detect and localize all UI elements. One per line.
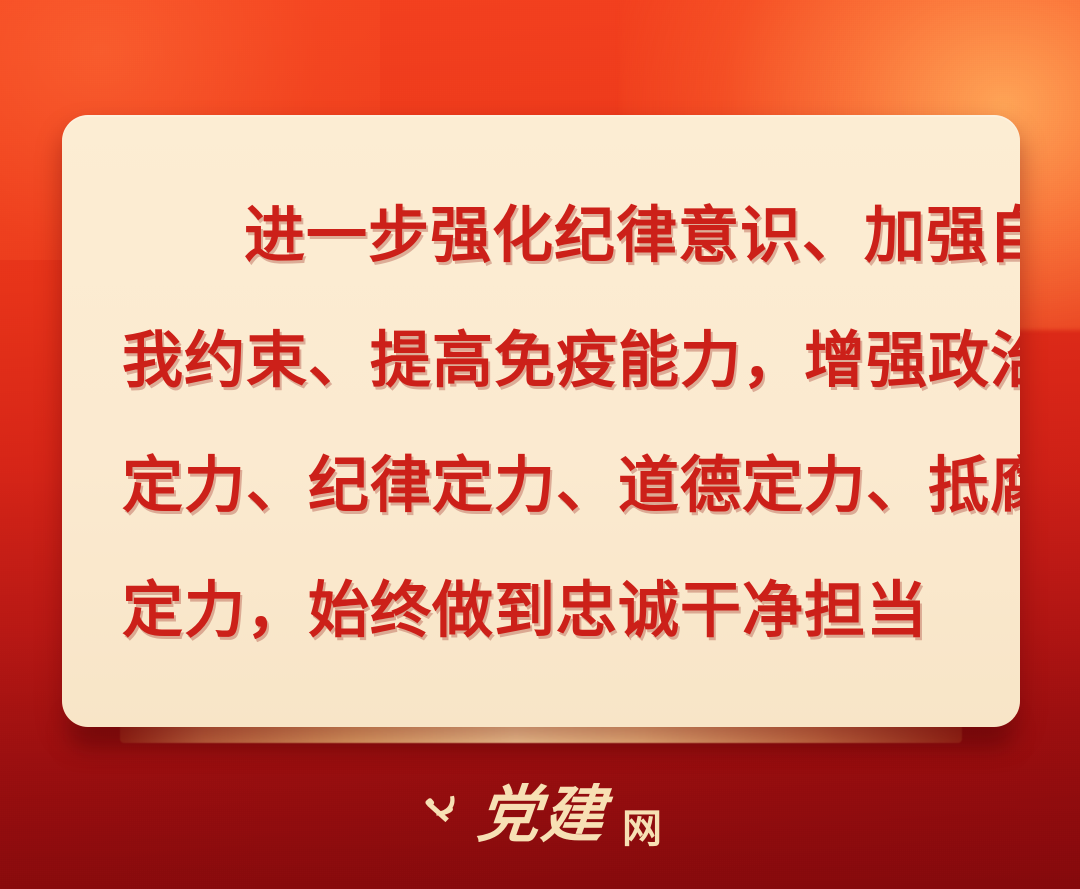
quote-text-block: 进一步强化纪律意识、加强自 我约束、提高免疫能力，增强政治 定力、纪律定力、道德… (122, 173, 966, 673)
brand-name-suffix: 网 (622, 809, 662, 849)
poster-root: 进一步强化纪律意识、加强自 我约束、提高免疫能力，增强政治 定力、纪律定力、道德… (0, 0, 1080, 889)
quote-line-4: 定力，始终做到忠诚干净担当 (122, 548, 966, 673)
brand-name-main: 党建 (475, 784, 610, 846)
hammer-and-sickle-emblem-icon (418, 790, 464, 836)
site-brand-logo: 党建 网 (0, 775, 1080, 855)
quote-line-1: 进一步强化纪律意识、加强自 (122, 173, 966, 298)
quote-card-wrapper: 进一步强化纪律意识、加强自 我约束、提高免疫能力，增强政治 定力、纪律定力、道德… (62, 115, 1020, 727)
quote-card: 进一步强化纪律意识、加强自 我约束、提高免疫能力，增强政治 定力、纪律定力、道德… (62, 115, 1020, 727)
quote-line-3: 定力、纪律定力、道德定力、抵腐 (122, 423, 966, 548)
quote-line-2: 我约束、提高免疫能力，增强政治 (122, 298, 966, 423)
